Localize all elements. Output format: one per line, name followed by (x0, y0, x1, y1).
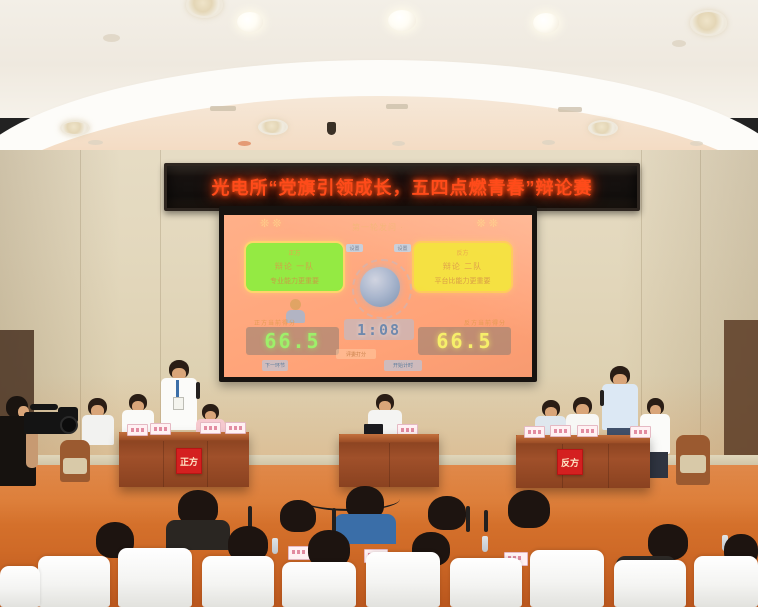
ceiling-downlight (237, 12, 263, 32)
judge-head (280, 500, 316, 532)
left-table-sign: 正方 (176, 448, 202, 474)
ceiling-sensor (88, 140, 103, 145)
right-settings-button[interactable]: 设置 (394, 244, 411, 252)
right-score-label: 反方当前得分 (464, 318, 506, 327)
ceiling-sensor (672, 40, 686, 47)
globe-icon (360, 267, 400, 307)
microphone[interactable] (196, 382, 200, 399)
camera-lens (60, 416, 78, 434)
name-card (577, 425, 598, 437)
left-team-caption: 正方 (288, 248, 300, 257)
led-banner: 光电所“党旗引领成长，五四点燃青春”辩论赛 (164, 163, 640, 211)
ceiling-downlight (388, 10, 416, 31)
audience-chair[interactable] (0, 566, 40, 607)
table-seam (163, 441, 164, 487)
desk-microphone[interactable] (332, 508, 336, 532)
right-score-value: 66.5 (418, 327, 511, 355)
water-bottle (272, 538, 278, 554)
audience-chair[interactable] (614, 560, 686, 607)
judge-head (428, 496, 466, 530)
avatar-head (290, 299, 301, 310)
chair-seat (63, 458, 87, 474)
start-timer-button[interactable]: 开始计时 (384, 360, 422, 371)
side-door-right (724, 320, 758, 470)
ceiling-vent (558, 107, 582, 112)
ceiling-ring-light (690, 10, 727, 36)
left-team-topic: 专业能力更重要 (270, 276, 319, 286)
audience-chair[interactable] (282, 562, 356, 607)
ceiling (0, 0, 758, 118)
moderator-table (339, 434, 439, 487)
desk-microphone[interactable] (484, 510, 488, 532)
side-chair-right (676, 435, 710, 485)
judge-shoulder (166, 520, 230, 550)
right-debate-table (516, 435, 650, 488)
table-seam (608, 444, 609, 488)
name-card (225, 422, 246, 434)
audience-head (648, 524, 688, 560)
left-team-box: 正方 辩论 一队 专业能力更重要 (244, 241, 345, 293)
audience-chair[interactable] (118, 548, 192, 607)
ceiling-ring-light (186, 0, 223, 18)
side-chair-left (60, 440, 90, 482)
ceiling-sensor (238, 141, 251, 146)
name-card (550, 425, 571, 437)
arm (26, 430, 38, 468)
microphone[interactable] (600, 390, 604, 406)
name-card (150, 423, 171, 435)
ceiling-vent (386, 104, 408, 109)
ceiling-sensor (103, 34, 120, 42)
table-seam (389, 443, 390, 487)
right-team-name: 辩论 二队 (443, 261, 482, 272)
right-team-topic: 平台比能力更重要 (435, 276, 491, 286)
audience-chair[interactable] (38, 556, 110, 607)
ceiling-ring-light (588, 120, 618, 136)
audience-chair[interactable] (530, 550, 604, 607)
audience-chair[interactable] (366, 552, 440, 607)
name-card (630, 426, 651, 438)
audience-chair[interactable] (450, 558, 522, 607)
torso (82, 415, 114, 445)
ceiling-vent (210, 106, 236, 111)
projection-screen: ❊ ❊ ❊ ❊ 第一轮发问 · 正方 辩论 一队 专业能力更重要 设置 反方 辩… (224, 215, 532, 377)
lanyard (176, 380, 179, 398)
countdown-timer: 1:08 (344, 319, 414, 340)
left-team-name: 辩论 一队 (275, 261, 314, 272)
badge (173, 397, 184, 410)
round-title: 第一轮发问 · (224, 222, 532, 233)
led-sheen (167, 166, 637, 176)
ceiling-ring-light (60, 120, 90, 136)
ceiling-sensor (542, 140, 555, 145)
left-score-value: 66.5 (246, 327, 339, 355)
name-card (127, 424, 148, 436)
audience-chair[interactable] (694, 556, 758, 607)
right-team-box: 反方 辩论 二队 平台比能力更重要 (412, 241, 513, 293)
name-card (524, 426, 545, 438)
camera-handle (30, 404, 58, 410)
ceiling-ring-light (258, 119, 288, 135)
ceiling-speaker (327, 122, 336, 135)
chair-seat (680, 455, 706, 473)
ceiling-sensor (690, 141, 703, 146)
name-card (200, 422, 221, 434)
desk-microphone[interactable] (466, 506, 470, 532)
water-bottle (482, 536, 488, 552)
judge-head (508, 490, 550, 528)
right-table-sign: 反方 (557, 449, 583, 475)
table-seam (207, 441, 208, 487)
left-score-label: 正方当前得分 (254, 318, 296, 327)
auditorium-photo: 光电所“党旗引领成长，五四点燃青春”辩论赛 ❊ ❊ ❊ ❊ 第一轮发问 · 正方… (0, 0, 758, 607)
judge-score-ghost: 评委打分 (336, 349, 376, 359)
ceiling-downlight (533, 13, 559, 33)
torso (602, 384, 638, 430)
led-banner-text: 光电所“党旗引领成长，五四点燃青春”辩论赛 (212, 174, 593, 200)
table-top (339, 434, 439, 442)
right-team-caption: 反方 (456, 248, 468, 257)
next-stage-button[interactable]: 下一环节 (262, 360, 288, 371)
left-settings-button[interactable]: 设置 (346, 244, 363, 252)
ceiling-sensor (392, 141, 405, 146)
audience-chair[interactable] (202, 556, 274, 607)
